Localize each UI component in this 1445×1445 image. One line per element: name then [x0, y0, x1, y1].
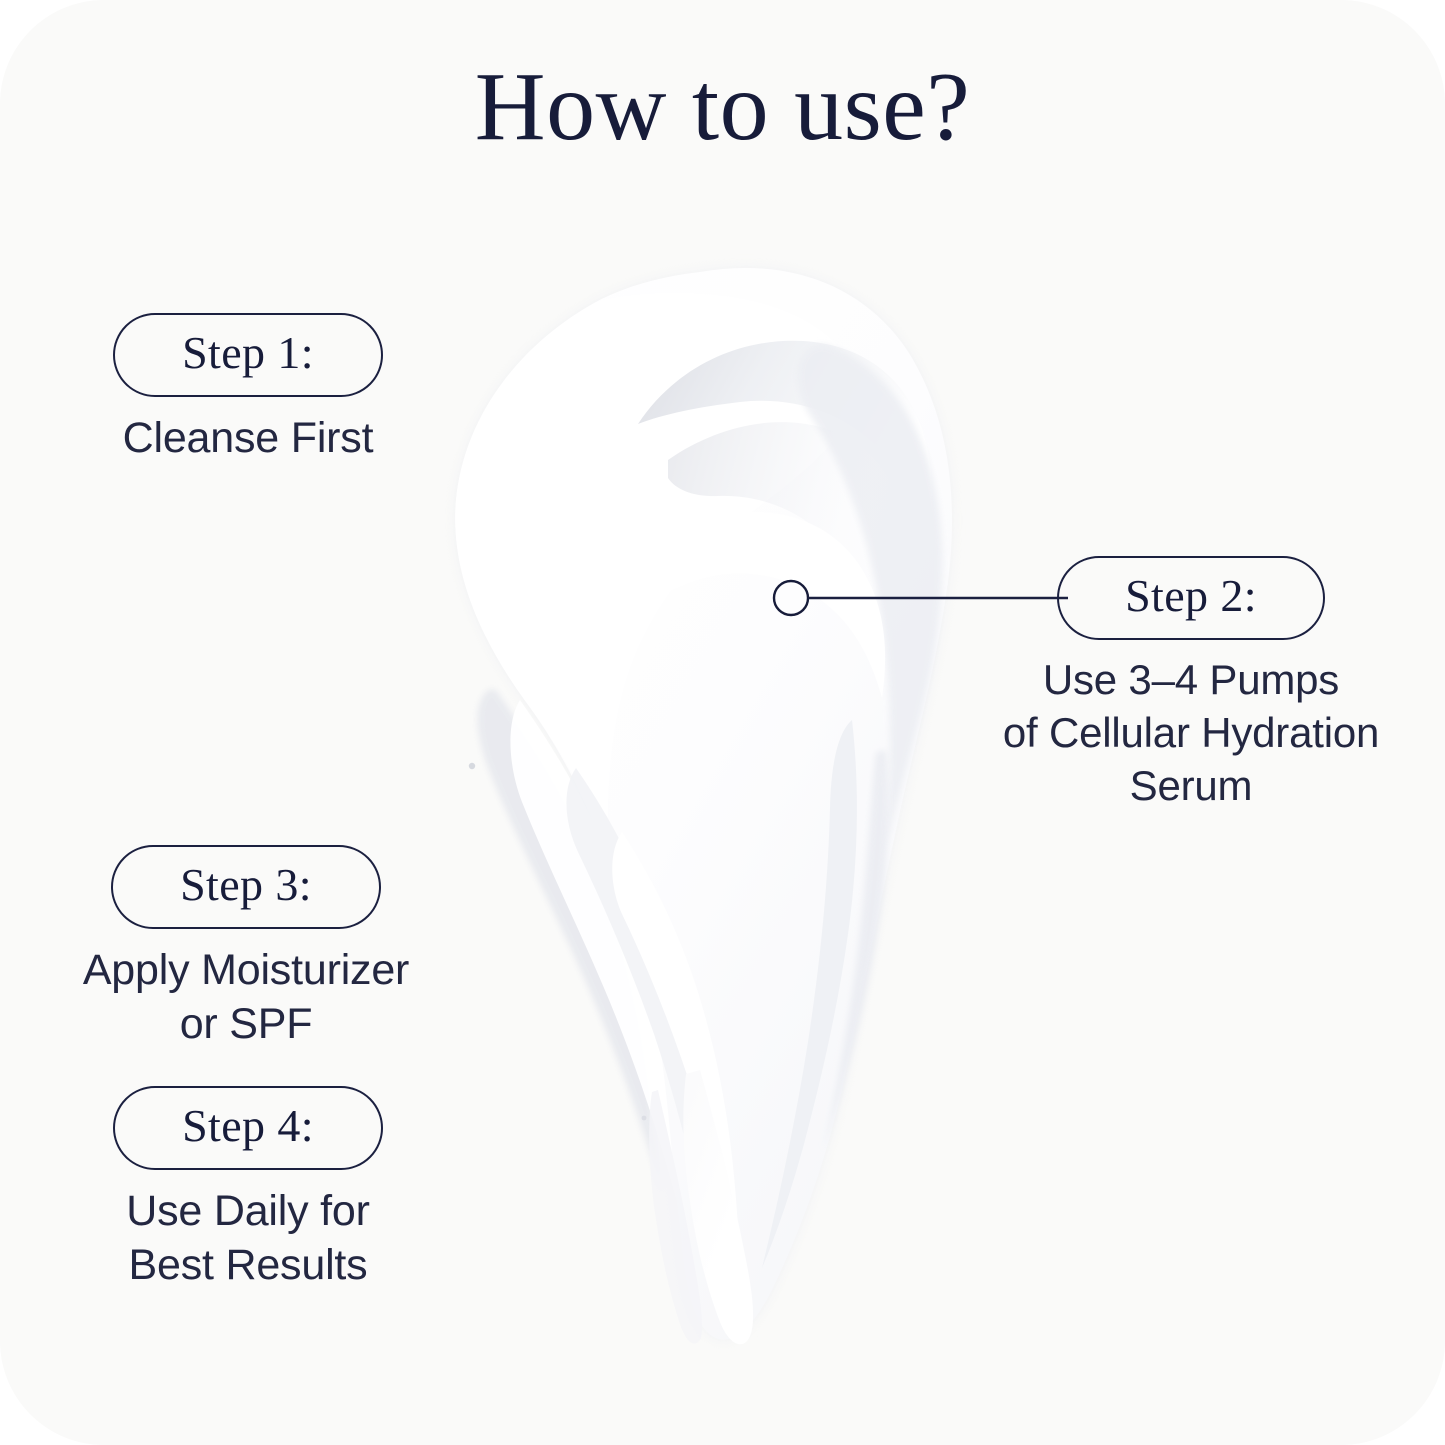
step-4-pill[interactable]: Step 4:: [113, 1086, 383, 1170]
step-2-description: Use 3–4 Pumps of Cellular Hydration Seru…: [981, 654, 1401, 813]
connector-circle-icon: [774, 581, 808, 615]
step-3-pill[interactable]: Step 3:: [111, 845, 381, 929]
step-2-pill[interactable]: Step 2:: [1057, 556, 1325, 640]
cream-body: [455, 268, 952, 1340]
how-to-use-infographic: How to use?: [0, 0, 1445, 1445]
card-surface: How to use?: [0, 0, 1445, 1445]
cream-swatch-image: [400, 250, 1020, 1360]
step-1-description: Cleanse First: [113, 411, 383, 465]
step-3-description: Apply Moisturizer or SPF: [51, 943, 441, 1051]
step-1-pill[interactable]: Step 1:: [113, 313, 383, 397]
step-1-block: Step 1: Cleanse First: [113, 313, 383, 465]
step-4-block: Step 4: Use Daily for Best Results: [113, 1086, 383, 1292]
step-3-block: Step 3: Apply Moisturizer or SPF: [111, 845, 381, 1051]
step-4-description: Use Daily for Best Results: [83, 1184, 413, 1292]
page-title: How to use?: [0, 54, 1445, 162]
step-2-connector: [770, 575, 1070, 623]
step-2-block: Step 2: Use 3–4 Pumps of Cellular Hydrat…: [1057, 556, 1325, 813]
